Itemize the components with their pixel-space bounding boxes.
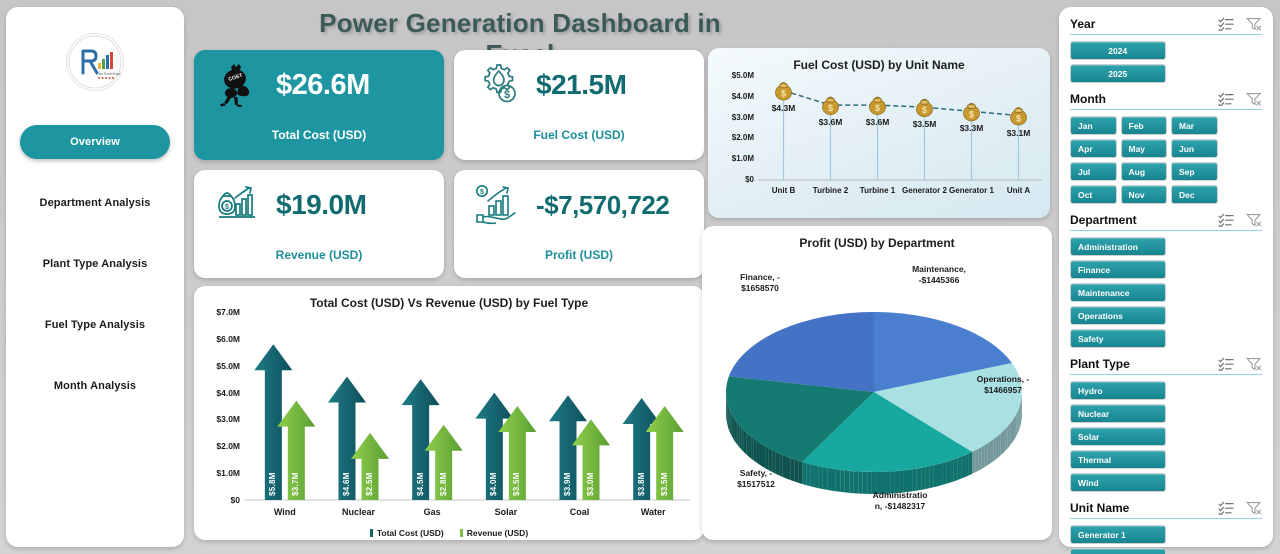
data-label: $4.5M xyxy=(416,450,425,496)
filter-options-year: 20242025 xyxy=(1070,41,1262,83)
sidebar-item-label: Month Analysis xyxy=(54,380,136,392)
filter-title: Plant Type xyxy=(1070,357,1130,371)
filter-header-plant-type: Plant Type xyxy=(1070,357,1262,375)
filter-chip-administration[interactable]: Administration xyxy=(1070,237,1166,256)
svg-text:$: $ xyxy=(504,89,510,101)
sidebar-item-label: Fuel Type Analysis xyxy=(45,319,145,331)
pie-data-label-operations: Operations, - $1466957 xyxy=(954,374,1052,396)
chart-panel-profit-by-department: Profit (USD) by Department Maintenance, … xyxy=(702,226,1052,540)
data-label: $3.5M xyxy=(512,450,521,496)
data-label: $2.8M xyxy=(439,450,448,496)
filter-icons xyxy=(1218,92,1262,106)
legend-label: Total Cost (USD) xyxy=(377,528,444,538)
data-label: $3.7M xyxy=(291,450,300,496)
filter-chip-jan[interactable]: Jan xyxy=(1070,116,1117,135)
filter-header-month: Month xyxy=(1070,92,1262,110)
filter-chip-aug[interactable]: Aug xyxy=(1121,162,1168,181)
logo-container: An Excel Expert xyxy=(6,33,184,91)
filter-options-month: JanFebMarAprMayJunJulAugSepOctNovDec xyxy=(1070,116,1262,204)
multi-select-icon[interactable] xyxy=(1218,17,1234,31)
money-bag-icon: $ xyxy=(964,103,980,121)
filter-chip-apr[interactable]: Apr xyxy=(1070,139,1117,158)
data-label: $4.0M xyxy=(489,450,498,496)
filter-chip-jun[interactable]: Jun xyxy=(1171,139,1218,158)
chart-legend: Total Cost (USD) Revenue (USD) xyxy=(194,528,704,538)
kpi-value: $21.5M xyxy=(530,69,626,101)
sidebar-item-label: Overview xyxy=(70,136,120,148)
kpi-card-revenue[interactable]: $ $19.0M Revenue (USD) xyxy=(194,170,444,278)
clear-filter-icon[interactable] xyxy=(1246,357,1262,371)
gear-flame-dollar-icon: $ xyxy=(468,62,530,108)
kpi-row: COST $26.6M xyxy=(194,50,444,120)
svg-text:$: $ xyxy=(875,103,880,113)
filter-chip-operations[interactable]: Operations xyxy=(1070,306,1166,325)
filter-chip-feb[interactable]: Feb xyxy=(1121,116,1168,135)
filter-chip-solar[interactable]: Solar xyxy=(1070,427,1166,446)
filter-chip-maintenance[interactable]: Maintenance xyxy=(1070,283,1166,302)
money-bag-icon: $ xyxy=(917,99,933,117)
money-bag-cost-icon: COST xyxy=(208,62,270,108)
svg-text:$: $ xyxy=(828,103,833,113)
legend-item-total-cost[interactable]: Total Cost (USD) xyxy=(370,528,444,538)
filter-chip-finance[interactable]: Finance xyxy=(1070,260,1166,279)
sidebar-item-month-analysis[interactable]: Month Analysis xyxy=(20,369,170,403)
sidebar-item-plant-type-analysis[interactable]: Plant Type Analysis xyxy=(20,247,170,281)
pie-plot-area: Maintenance, -$1445366Operations, - $146… xyxy=(702,252,1052,540)
x-axis-category: Turbine 1 xyxy=(854,186,902,196)
data-label: $3.9M xyxy=(563,450,572,496)
multi-select-icon[interactable] xyxy=(1218,357,1234,371)
data-label: $3.5M xyxy=(903,119,947,129)
x-axis-category: Generator 2 xyxy=(901,186,949,196)
legend-label: Revenue (USD) xyxy=(467,528,528,538)
x-axis-category: Unit A xyxy=(995,186,1043,196)
filter-chip-mar[interactable]: Mar xyxy=(1171,116,1218,135)
clear-filter-icon[interactable] xyxy=(1246,17,1262,31)
filter-chip-nov[interactable]: Nov xyxy=(1121,185,1168,204)
money-bag-icon: $ xyxy=(776,83,792,101)
data-label: $4.6M xyxy=(342,450,351,496)
data-label: $2.5M xyxy=(365,450,374,496)
x-axis-category: Water xyxy=(621,507,685,517)
multi-select-icon[interactable] xyxy=(1218,213,1234,227)
chart-title: Profit (USD) by Department xyxy=(702,226,1052,250)
dashboard-root: An Excel Expert Overview Department Anal… xyxy=(0,0,1280,554)
sidebar-item-overview[interactable]: Overview xyxy=(20,125,170,159)
x-axis-category: Gas xyxy=(400,507,464,517)
cost-revenue-arrow-svg xyxy=(194,306,704,540)
chart-panel-cost-vs-revenue: Total Cost (USD) Vs Revenue (USD) by Fue… xyxy=(194,286,704,540)
clear-filter-icon[interactable] xyxy=(1246,213,1262,227)
hand-growth-chart-dollar-icon: $ xyxy=(468,184,530,226)
kpi-label: Profit (USD) xyxy=(454,248,704,262)
data-label: $3.6M xyxy=(856,117,900,127)
filter-header-department: Department xyxy=(1070,213,1262,231)
x-axis-category: Nuclear xyxy=(327,507,391,517)
clear-filter-icon[interactable] xyxy=(1246,501,1262,515)
filter-icons xyxy=(1218,501,1262,515)
filter-chip-nuclear[interactable]: Nuclear xyxy=(1070,404,1166,423)
svg-text:$: $ xyxy=(225,204,229,211)
data-label: $3.6M xyxy=(809,117,853,127)
legend-swatch-icon xyxy=(370,529,373,537)
x-axis-category: Wind xyxy=(253,507,317,517)
filter-chip-2024[interactable]: 2024 xyxy=(1070,41,1166,60)
money-bag-icon: $ xyxy=(823,97,839,115)
filter-options-unit-name: Generator 1Generator 2Turbine 1Turbine 2… xyxy=(1070,525,1262,554)
svg-text:$: $ xyxy=(922,105,927,115)
filter-panel: Year20242025MonthJanFebMarAprMayJunJulAu… xyxy=(1059,7,1273,547)
multi-select-icon[interactable] xyxy=(1218,501,1234,515)
filter-chip-may[interactable]: May xyxy=(1121,139,1168,158)
filter-header-year: Year xyxy=(1070,17,1262,35)
sidebar-item-label: Plant Type Analysis xyxy=(43,258,148,270)
pie-data-label-maintenance: Maintenance, -$1445366 xyxy=(884,264,994,286)
kpi-label: Total Cost (USD) xyxy=(194,128,444,142)
kpi-row: $ $19.0M xyxy=(194,170,444,240)
filter-icons xyxy=(1218,213,1262,227)
brand-logo-icon: An Excel Expert xyxy=(66,33,124,91)
x-axis-category: Unit B xyxy=(760,186,808,196)
filter-title: Department xyxy=(1070,213,1137,227)
filter-title: Year xyxy=(1070,17,1095,31)
svg-text:$: $ xyxy=(969,109,974,119)
filter-chip-thermal[interactable]: Thermal xyxy=(1070,450,1166,469)
filter-chip-wind[interactable]: Wind xyxy=(1070,473,1166,492)
money-bag-growth-chart-icon: $ xyxy=(208,184,270,226)
filter-chip-generator-1[interactable]: Generator 1 xyxy=(1070,525,1166,544)
sidebar: An Excel Expert Overview Department Anal… xyxy=(6,7,184,547)
multi-select-icon[interactable] xyxy=(1218,92,1234,106)
filter-title: Unit Name xyxy=(1070,501,1129,515)
x-axis-category: Solar xyxy=(474,507,538,517)
filter-icons xyxy=(1218,357,1262,371)
legend-item-revenue[interactable]: Revenue (USD) xyxy=(460,528,528,538)
bar-plot-area: $0$1.0M$2.0M$3.0M$4.0M$5.0M$6.0M$7.0M$5.… xyxy=(194,306,704,540)
pie-data-label-safety: Safety, - $1517512 xyxy=(708,468,804,490)
data-label: $5.8M xyxy=(268,450,277,496)
sidebar-item-fuel-type-analysis[interactable]: Fuel Type Analysis xyxy=(20,308,170,342)
filter-options-plant-type: HydroNuclearSolarThermalWind xyxy=(1070,381,1262,492)
pie-data-label-finance: Finance, - $1658570 xyxy=(712,272,808,294)
filter-chip-generator-2[interactable]: Generator 2 xyxy=(1070,548,1166,554)
filter-chip-hydro[interactable]: Hydro xyxy=(1070,381,1166,400)
svg-text:$: $ xyxy=(480,189,484,196)
svg-text:$: $ xyxy=(781,89,786,99)
filter-chip-2025[interactable]: 2025 xyxy=(1070,64,1166,83)
chart-title: Fuel Cost (USD) by Unit Name xyxy=(708,48,1050,72)
x-axis-category: Coal xyxy=(548,507,612,517)
kpi-card-profit[interactable]: $ -$7,570,722 Profit (USD) xyxy=(454,170,704,278)
legend-swatch-icon xyxy=(460,529,463,537)
filter-chip-sep[interactable]: Sep xyxy=(1171,162,1218,181)
kpi-card-fuel-cost[interactable]: $ $21.5M Fuel Cost (USD) xyxy=(454,50,704,160)
filter-chip-dec[interactable]: Dec xyxy=(1171,185,1218,204)
fuel-cost-plot-area: $0$1.0M$2.0M$3.0M$4.0M$5.0M$$$$$$$4.3M$3… xyxy=(708,70,1050,218)
data-label: $3.5M xyxy=(660,450,669,496)
filter-chip-safety[interactable]: Safety xyxy=(1070,329,1166,348)
data-label: $3.1M xyxy=(997,128,1041,138)
x-axis-category: Generator 1 xyxy=(948,186,996,196)
filter-header-unit-name: Unit Name xyxy=(1070,501,1262,519)
sidebar-nav: Overview Department Analysis Plant Type … xyxy=(6,125,184,430)
money-bag-icon: $ xyxy=(1011,108,1027,126)
sidebar-item-label: Department Analysis xyxy=(40,197,151,209)
kpi-card-total-cost[interactable]: COST $26.6M Total Cost (USD) xyxy=(194,50,444,160)
x-axis-category: Turbine 2 xyxy=(807,186,855,196)
pie-data-label-administration: Administratio n, -$1482317 xyxy=(850,490,950,512)
filter-chip-jul[interactable]: Jul xyxy=(1070,162,1117,181)
kpi-value: $26.6M xyxy=(270,69,370,102)
filter-chip-oct[interactable]: Oct xyxy=(1070,185,1117,204)
kpi-row: $ $21.5M xyxy=(454,50,704,120)
svg-text:An Excel Expert: An Excel Expert xyxy=(99,72,122,76)
chart-panel-fuel-cost-by-unit: Fuel Cost (USD) by Unit Name $0$1.0M$2.0… xyxy=(708,48,1050,218)
kpi-value: $19.0M xyxy=(270,189,366,221)
kpi-value: -$7,570,722 xyxy=(530,190,669,221)
sidebar-item-department-analysis[interactable]: Department Analysis xyxy=(20,186,170,220)
filter-title: Month xyxy=(1070,92,1106,106)
data-label: $3.8M xyxy=(637,450,646,496)
data-label: $3.3M xyxy=(950,123,994,133)
kpi-row: $ -$7,570,722 xyxy=(454,170,704,240)
money-bag-icon: $ xyxy=(870,97,886,115)
data-label: $4.3M xyxy=(762,103,806,113)
data-label: $3.0M xyxy=(586,450,595,496)
kpi-label: Revenue (USD) xyxy=(194,248,444,262)
filter-options-department: AdministrationFinanceMaintenanceOperatio… xyxy=(1070,237,1262,348)
clear-filter-icon[interactable] xyxy=(1246,92,1262,106)
svg-text:$: $ xyxy=(1016,114,1021,124)
kpi-label: Fuel Cost (USD) xyxy=(454,128,704,142)
filter-icons xyxy=(1218,17,1262,31)
